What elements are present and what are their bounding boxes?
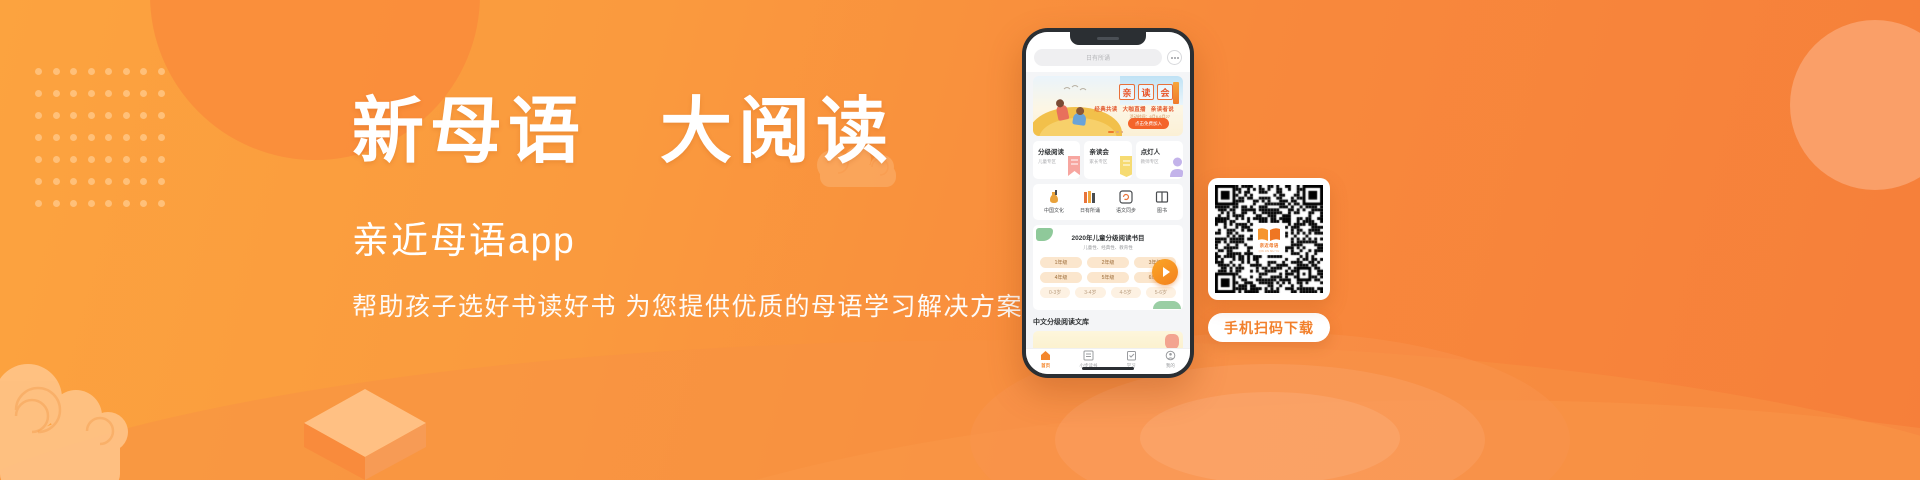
- bottom-navigation: 首页 小步读书 学习: [1026, 348, 1190, 374]
- quick-icon-item[interactable]: 中国文化: [1036, 190, 1072, 214]
- quick-icon-item[interactable]: 图书: [1144, 190, 1180, 214]
- tagline: 帮助孩子选好书读好书 为您提供优质的母语学习解决方案: [352, 291, 1032, 324]
- qr-code: 亲近母语 QIN JIN MU YU: [1208, 178, 1330, 300]
- grade-row: 0-3岁 3-4岁 4-5岁 5-6岁: [1040, 287, 1176, 298]
- bookmark-icon: [1066, 155, 1080, 177]
- headline-part-2: 大阅读: [660, 92, 894, 172]
- quick-icon-label: 图书: [1157, 207, 1167, 214]
- book-logo-icon: [1257, 226, 1281, 242]
- promo-flag: [1173, 82, 1179, 104]
- feature-card[interactable]: 点灯人 教师专区: [1136, 141, 1183, 179]
- qr-logo-name: 亲近母语: [1260, 243, 1279, 249]
- nav-label: 首页: [1041, 363, 1050, 369]
- nav-label: 我的: [1166, 363, 1175, 369]
- library-section-title: 中文分级阅读文库: [1033, 317, 1183, 327]
- list-icon: [1083, 350, 1094, 361]
- vase-icon: [1047, 190, 1061, 204]
- promo-sub-2: 大咖直播: [1123, 105, 1146, 113]
- home-indicator: [1082, 367, 1134, 370]
- decor-cube: [300, 385, 430, 480]
- quick-icon-label: 日有所诵: [1080, 207, 1100, 214]
- headline-block: 新母语 大阅读 亲近母语app 帮助孩子选好书读好书 为您提供优质的母语学习解决…: [352, 92, 1032, 324]
- qr-center-logo: 亲近母语 QIN JIN MU YU: [1253, 223, 1285, 255]
- feature-cards: 分级阅读 儿童专区 亲读会 家长专区: [1033, 141, 1183, 179]
- quick-icon-label: 语文同步: [1116, 207, 1136, 214]
- age-tag[interactable]: 0-3岁: [1040, 287, 1070, 298]
- promo-join-button[interactable]: 点击免费加入: [1128, 118, 1169, 129]
- grade-tag[interactable]: 1年级: [1040, 257, 1082, 268]
- promo-carousel[interactable]: 亲 读 会 经典共读 大咖直播 亲读者说 活动时间：6月6-6月27 点击免费加…: [1033, 76, 1183, 136]
- feature-card[interactable]: 分级阅读 儿童专区: [1033, 141, 1080, 179]
- phone-mockup: 日有所诵 亲 读 会: [1022, 28, 1194, 378]
- home-icon: [1040, 350, 1051, 361]
- quick-icon-item[interactable]: 日有所诵: [1072, 190, 1108, 214]
- qr-download-block: 亲近母语 QIN JIN MU YU 手机扫码下载: [1208, 178, 1330, 342]
- promo-subtitle: 经典共读 大咖直播 亲读者说: [1094, 105, 1174, 113]
- decor-circle-top-right: [1790, 20, 1920, 190]
- app-name: 亲近母语app: [352, 219, 1032, 263]
- quick-access-icons: 中国文化 日有所诵: [1033, 184, 1183, 220]
- headline-part-1: 新母语: [352, 92, 586, 172]
- graded-reading-title: 2020年儿童分级阅读书目: [1040, 232, 1176, 242]
- user-circle-icon: [1165, 350, 1176, 361]
- page-title: 新母语 大阅读: [352, 92, 1032, 173]
- promo-title: 亲 读 会: [1119, 84, 1173, 100]
- age-tag[interactable]: 4-5岁: [1111, 287, 1141, 298]
- quick-icon-label: 中国文化: [1044, 207, 1064, 214]
- more-dots-icon[interactable]: [1167, 50, 1182, 65]
- feature-card[interactable]: 亲读会 家长专区: [1084, 141, 1131, 179]
- play-button-icon[interactable]: [1152, 259, 1178, 285]
- decor-leaf-bottom-icon: [1153, 301, 1181, 309]
- graded-reading-section: 2020年儿童分级阅读书目 儿童性、经典性、教育性 1年级 2年级 3年级 4年…: [1033, 225, 1183, 310]
- nav-item-home[interactable]: 首页: [1040, 350, 1051, 369]
- phone-notch: [1070, 32, 1146, 45]
- nav-item-profile[interactable]: 我的: [1165, 350, 1176, 369]
- decor-cloud-bottom-left: [0, 340, 180, 480]
- promo-title-char-1: 亲: [1119, 84, 1135, 100]
- promo-banner: 新母语 大阅读 亲近母语app 帮助孩子选好书读好书 为您提供优质的母语学习解决…: [0, 0, 1920, 480]
- graded-reading-subtitle: 儿童性、经典性、教育性: [1040, 245, 1176, 251]
- library-card[interactable]: [1033, 331, 1183, 348]
- quick-icon-item[interactable]: 语文同步: [1108, 190, 1144, 214]
- scan-download-button[interactable]: 手机扫码下载: [1208, 313, 1330, 342]
- clipboard-check-icon: [1126, 350, 1137, 361]
- sync-icon: [1119, 190, 1133, 204]
- promo-sub-3: 亲读者说: [1151, 105, 1174, 113]
- grade-tag[interactable]: 2年级: [1087, 257, 1129, 268]
- decor-dot-grid: [30, 60, 170, 215]
- grade-tag[interactable]: 5年级: [1087, 272, 1129, 283]
- search-input[interactable]: 日有所诵: [1034, 49, 1162, 66]
- age-tag[interactable]: 3-4岁: [1075, 287, 1105, 298]
- grade-tag[interactable]: 4年级: [1040, 272, 1082, 283]
- carousel-indicators[interactable]: [1108, 131, 1123, 134]
- birds-icon: [1063, 84, 1089, 94]
- age-tag[interactable]: 5-6岁: [1146, 287, 1176, 298]
- promo-title-char-2: 读: [1138, 84, 1154, 100]
- book-icon: [1155, 190, 1169, 204]
- qr-logo-pinyin: QIN JIN MU YU: [1259, 250, 1280, 253]
- promo-sub-1: 经典共读: [1094, 105, 1117, 113]
- note-icon: [1118, 155, 1132, 177]
- books-icon: [1083, 190, 1097, 204]
- person-icon: [1169, 155, 1183, 177]
- promo-title-char-3: 会: [1157, 84, 1173, 100]
- illustration-child-2: [1072, 112, 1087, 126]
